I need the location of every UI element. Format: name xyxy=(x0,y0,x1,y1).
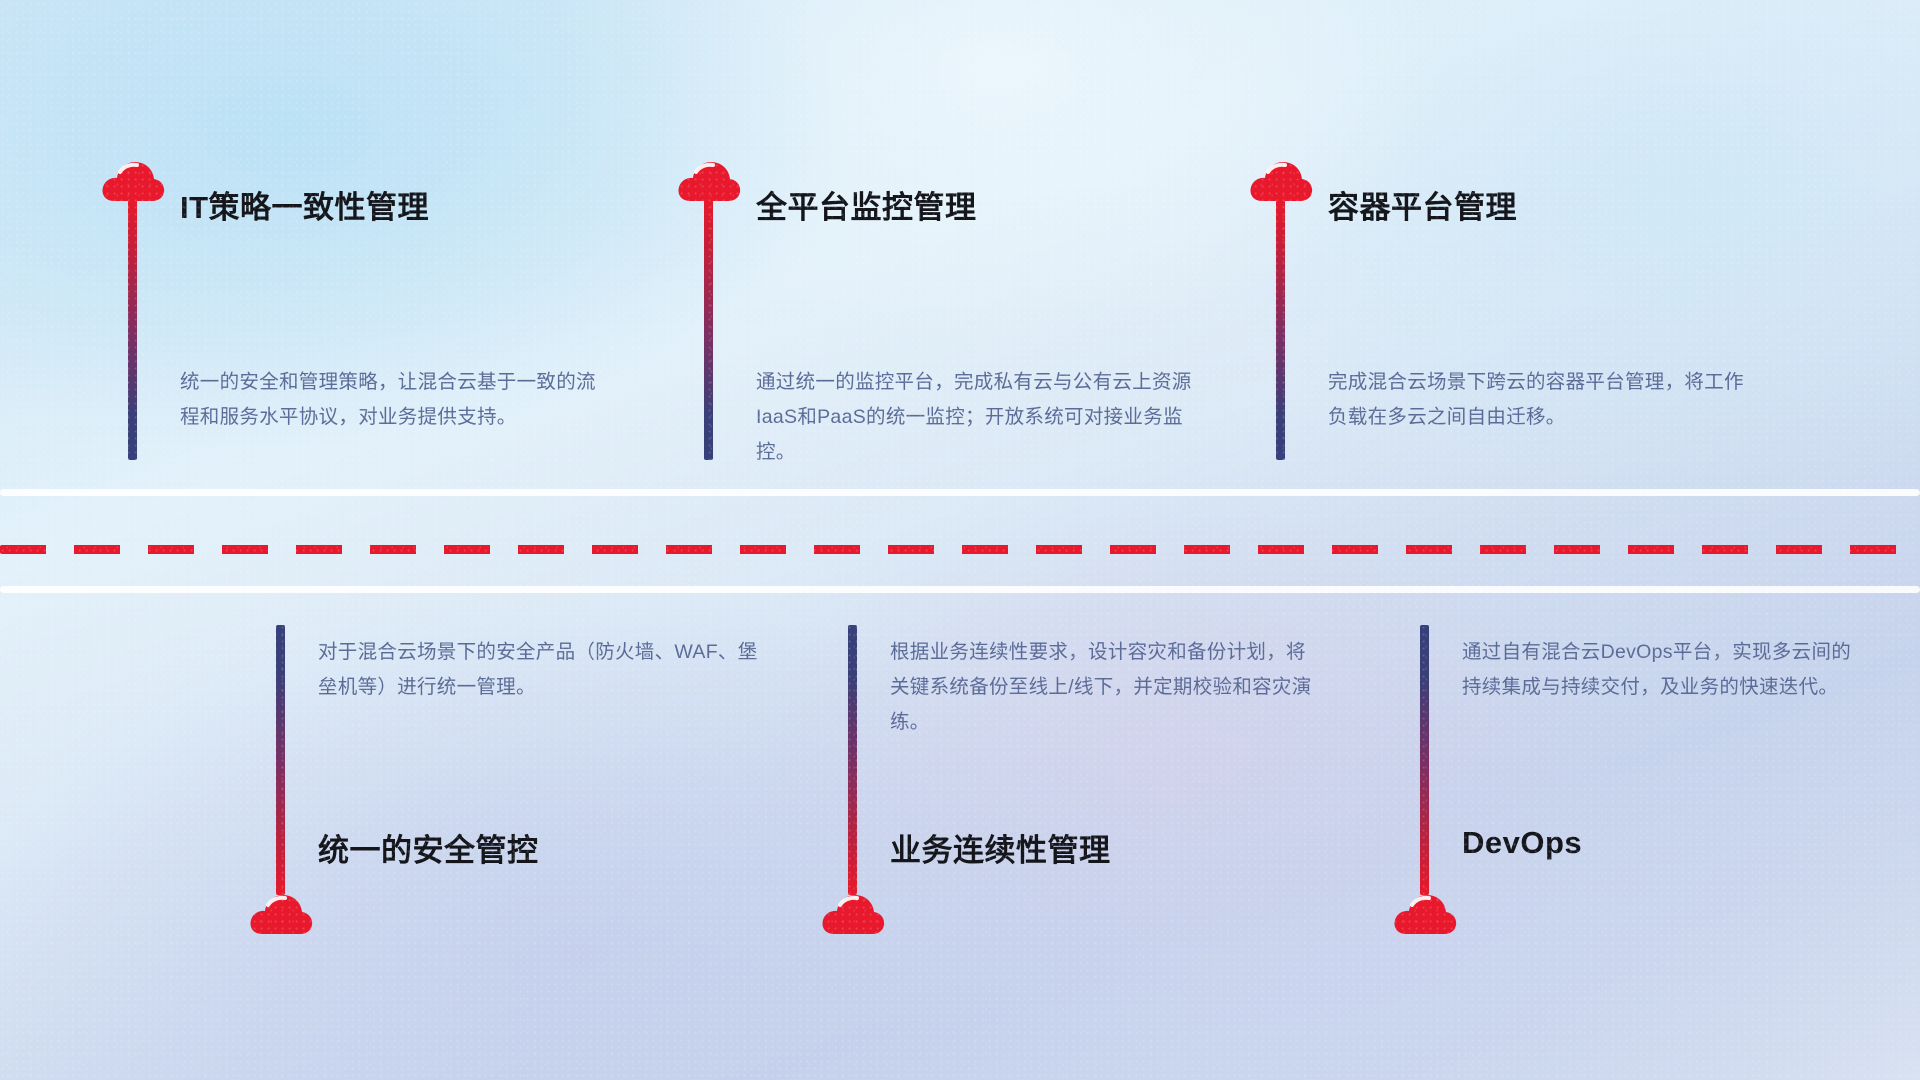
cloud-icon xyxy=(1392,893,1458,935)
feature-title: 业务连续性管理 xyxy=(890,825,1111,870)
cloud-pin-icon xyxy=(100,160,170,202)
feature-title: 统一的安全管控 xyxy=(318,825,539,870)
feature-description: 通过统一的监控平台，完成私有云与公有云上资源IaaS和PaaS的统一监控；开放系… xyxy=(756,365,1196,470)
feature-description: 根据业务连续性要求，设计容灾和备份计划，将关键系统备份至线上/线下，并定期校验和… xyxy=(890,635,1320,740)
divider-dashed-line xyxy=(0,545,1920,554)
pin-stem xyxy=(848,625,857,895)
feature-description: 通过自有混合云DevOps平台，实现多云间的持续集成与持续交付，及业务的快速迭代… xyxy=(1462,635,1862,705)
cloud-icon xyxy=(248,893,314,935)
feature-title: 全平台监控管理 xyxy=(756,182,977,227)
feature-description: 对于混合云场景下的安全产品（防火墙、WAF、堡垒机等）进行统一管理。 xyxy=(318,635,758,705)
cloud-icon xyxy=(820,893,886,935)
feature-title: DevOps xyxy=(1462,825,1582,861)
divider-rule-bottom xyxy=(0,586,1920,593)
pin-stem xyxy=(128,200,137,460)
pin-stem xyxy=(704,200,713,460)
pin-stem xyxy=(276,625,285,895)
pin-stem xyxy=(1420,625,1429,895)
cloud-icon xyxy=(1248,160,1314,202)
feature-description: 完成混合云场景下跨云的容器平台管理，将工作负载在多云之间自由迁移。 xyxy=(1328,365,1753,435)
divider-rule-top xyxy=(0,489,1920,496)
cloud-icon xyxy=(100,160,166,202)
pin-stem xyxy=(1276,200,1285,460)
cloud-pin-icon xyxy=(676,160,746,202)
cloud-icon xyxy=(676,160,742,202)
infographic-canvas: IT策略一致性管理 统一的安全和管理策略，让混合云基于一致的流程和服务水平协议，… xyxy=(0,0,1920,1080)
feature-title: 容器平台管理 xyxy=(1328,182,1517,227)
feature-title: IT策略一致性管理 xyxy=(180,182,429,227)
cloud-pin-icon xyxy=(1248,160,1318,202)
feature-description: 统一的安全和管理策略，让混合云基于一致的流程和服务水平协议，对业务提供支持。 xyxy=(180,365,610,435)
